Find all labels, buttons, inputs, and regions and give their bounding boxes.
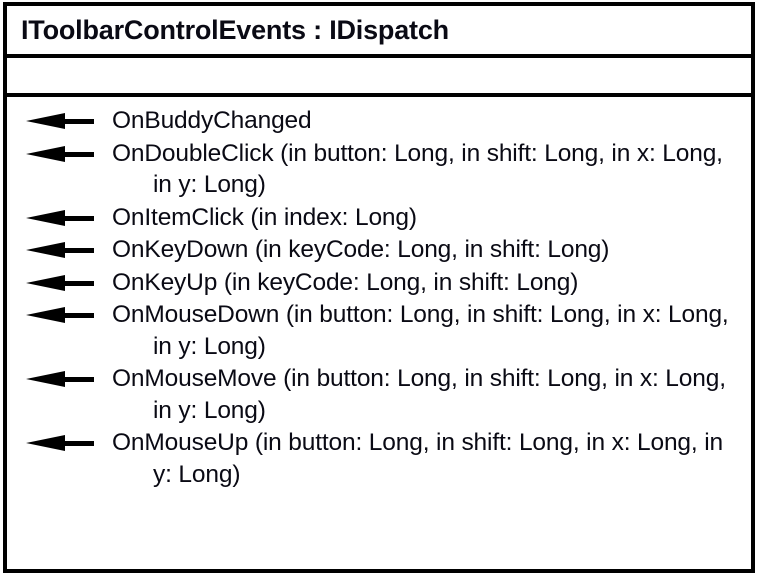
operation-signature: OnBuddyChanged: [112, 105, 737, 137]
operation-row: OnKeyDown (in keyCode: Long, in shift: L…: [7, 234, 745, 266]
operation-signature: OnMouseDown (in button: Long, in shift: …: [112, 299, 737, 362]
operation-row: OnBuddyChanged: [7, 105, 745, 137]
left-arrow-icon: [26, 275, 94, 292]
operation-row: OnDoubleClick (in button: Long, in shift…: [7, 138, 745, 201]
left-arrow-icon: [26, 307, 94, 324]
diagram-canvas: IToolbarControlEvents : IDispatch OnBudd…: [0, 0, 760, 584]
class-name-label: IToolbarControlEvents : IDispatch: [21, 15, 449, 46]
operation-signature: OnMouseUp (in button: Long, in shift: Lo…: [112, 427, 737, 490]
left-arrow-icon: [26, 113, 94, 130]
left-arrow-icon: [26, 371, 94, 388]
class-title-compartment: IToolbarControlEvents : IDispatch: [7, 6, 751, 58]
operation-signature: OnKeyDown (in keyCode: Long, in shift: L…: [112, 234, 737, 266]
left-arrow-icon: [26, 210, 94, 227]
operation-signature: OnKeyUp (in keyCode: Long, in shift: Lon…: [112, 267, 737, 299]
operation-signature: OnItemClick (in index: Long): [112, 202, 737, 234]
uml-class-box: IToolbarControlEvents : IDispatch OnBudd…: [3, 2, 755, 573]
left-arrow-icon: [26, 242, 94, 259]
operation-row: OnKeyUp (in keyCode: Long, in shift: Lon…: [7, 267, 745, 299]
operation-row: OnMouseMove (in button: Long, in shift: …: [7, 363, 745, 426]
left-arrow-icon: [26, 146, 94, 163]
operation-row: OnItemClick (in index: Long): [7, 202, 745, 234]
operation-signature: OnDoubleClick (in button: Long, in shift…: [112, 138, 737, 201]
class-attributes-compartment: [7, 58, 751, 97]
operation-row: OnMouseDown (in button: Long, in shift: …: [7, 299, 745, 362]
operation-signature: OnMouseMove (in button: Long, in shift: …: [112, 363, 737, 426]
operation-row: OnMouseUp (in button: Long, in shift: Lo…: [7, 427, 745, 490]
left-arrow-icon: [26, 435, 94, 452]
class-operations-compartment: OnBuddyChanged OnDoubleClick (in button:…: [7, 97, 751, 497]
